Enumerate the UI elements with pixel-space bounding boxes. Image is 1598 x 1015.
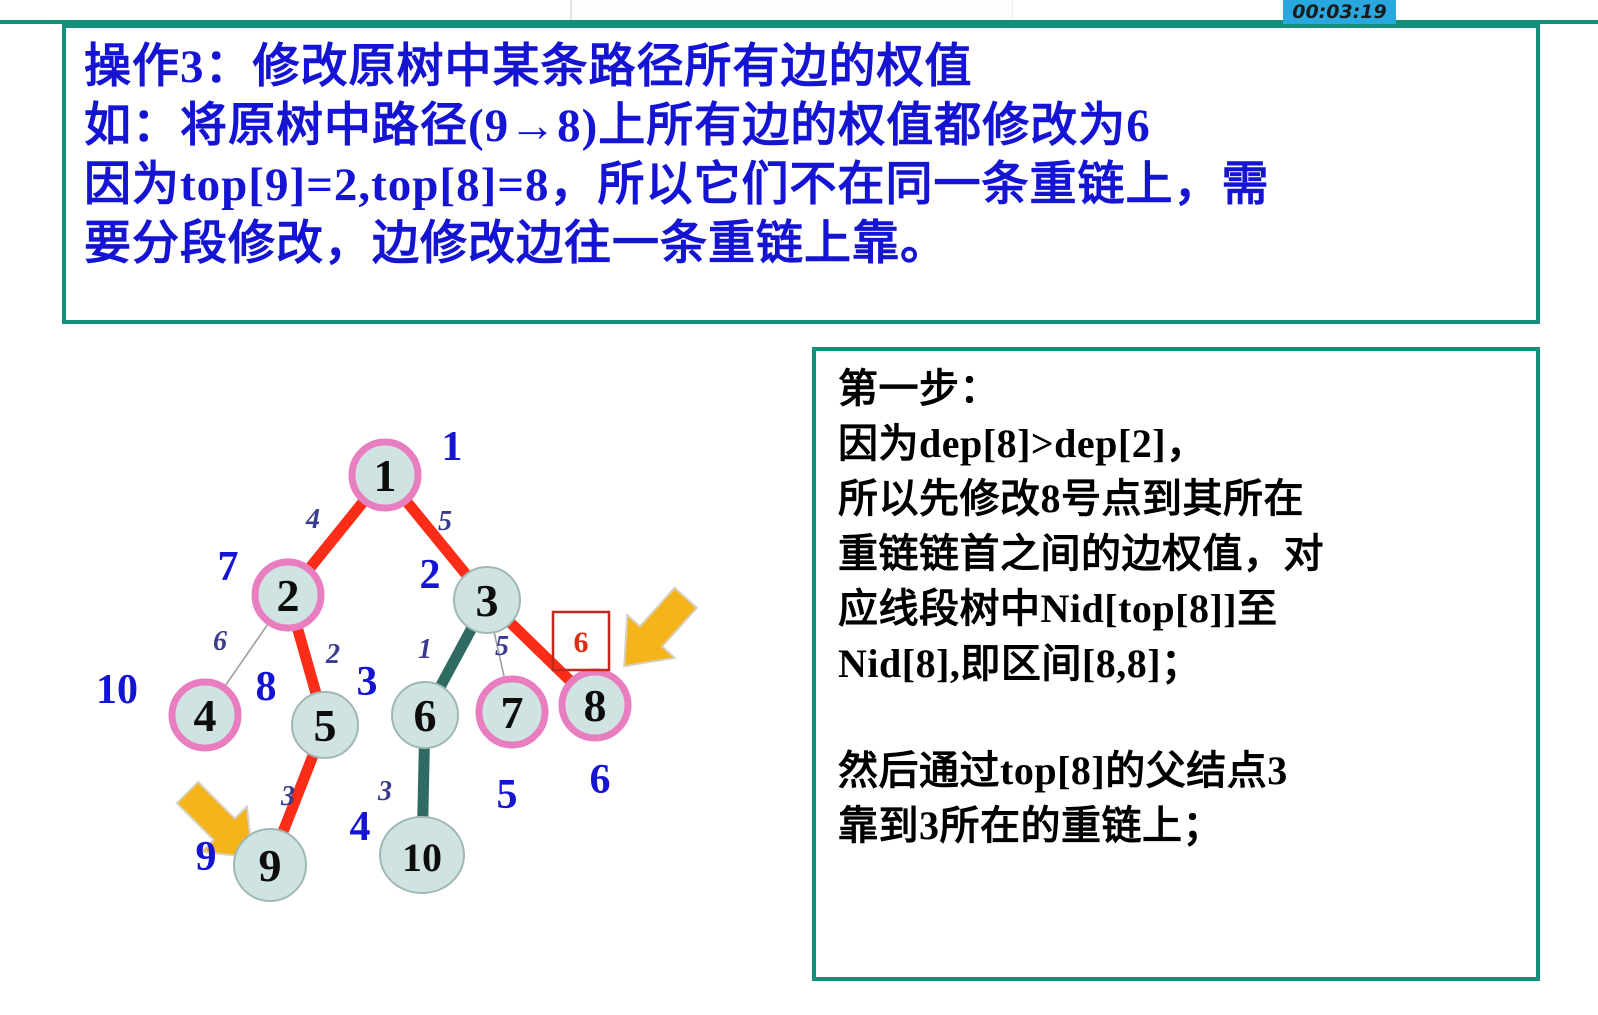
tree-node-label-7: 7 xyxy=(501,687,524,738)
explanation-line-5: 应线段树中Nid[top[8]]至 xyxy=(838,581,1528,636)
edge-3-6 xyxy=(440,628,472,687)
explanation-line-3: 所以先修改8号点到其所在 xyxy=(838,471,1528,526)
node-index-label-7: 5 xyxy=(497,772,518,818)
node-index-label-8: 6 xyxy=(590,757,611,803)
node-index-label-2: 7 xyxy=(218,544,239,590)
explanation-spacer xyxy=(838,691,1528,743)
tree-node-label-5: 5 xyxy=(314,700,337,751)
edge-6-10 xyxy=(423,747,425,818)
statement-box: 操作3：修改原树中某条路径所有边的权值 如：将原树中路径(9→8)上所有边的权值… xyxy=(62,24,1540,324)
tree-node-4: 4 xyxy=(172,682,238,748)
tree-node-9: 9 xyxy=(234,829,306,901)
tree-diagram: 12345678910 45621533617210835694 xyxy=(70,400,770,960)
tree-node-label-8: 8 xyxy=(584,680,607,731)
edge-3-8 xyxy=(510,622,572,682)
edge-weight-3-7: 5 xyxy=(495,631,509,662)
edge-weight-2-4: 6 xyxy=(213,626,227,657)
tree-node-label-10: 10 xyxy=(402,835,442,880)
statement-text-block: 操作3：修改原树中某条路径所有边的权值 如：将原树中路径(9→8)上所有边的权值… xyxy=(84,38,1524,274)
explanation-line-7: 然后通过top[8]的父结点3 xyxy=(838,743,1528,798)
explanation-line-2: 因为dep[8]>dep[2]， xyxy=(838,416,1528,471)
tree-node-10: 10 xyxy=(380,817,464,893)
top-strip-window-edge xyxy=(570,0,1013,20)
explanation-line-8: 靠到3所在的重链上； xyxy=(838,798,1528,853)
tree-node-7: 7 xyxy=(479,679,545,745)
tree-node-label-2: 2 xyxy=(277,570,300,621)
node-index-label-6: 3 xyxy=(357,659,378,705)
edge-weight-1-2: 4 xyxy=(305,504,320,535)
edge-2-5 xyxy=(297,626,316,694)
explanation-line-4: 重链链首之间的边权值，对 xyxy=(838,526,1528,581)
node-index-label-5: 8 xyxy=(256,664,277,710)
explanation-text-block: 第一步： 因为dep[8]>dep[2]， 所以先修改8号点到其所在 重链链首之… xyxy=(838,361,1528,853)
explanation-line-6: Nid[8],即区间[8,8]； xyxy=(838,636,1528,691)
modified-weight-value: 6 xyxy=(574,626,589,659)
edge-weight-6-10: 3 xyxy=(377,776,392,807)
statement-line-4: 要分段修改，边修改边往一条重链上靠。 xyxy=(84,215,1524,274)
edge-weight-3-6: 1 xyxy=(418,634,432,665)
tree-node-label-1: 1 xyxy=(374,450,397,501)
tree-node-3: 3 xyxy=(454,567,520,633)
edge-weight-2-5: 2 xyxy=(325,639,340,670)
tree-node-1: 1 xyxy=(352,442,418,508)
statement-line-2: 如：将原树中路径(9→8)上所有边的权值都修改为6 xyxy=(84,97,1524,156)
timestamp-badge: 00:03:19 xyxy=(1283,0,1396,24)
tree-node-8: 8 xyxy=(562,672,628,738)
tree-node-6: 6 xyxy=(392,682,458,748)
statement-line-1: 操作3：修改原树中某条路径所有边的权值 xyxy=(84,38,1524,97)
statement-line-3: 因为top[9]=2,top[8]=8，所以它们不在同一条重链上，需 xyxy=(84,156,1524,215)
node-index-label-10: 4 xyxy=(350,804,371,850)
node-index-label-4: 10 xyxy=(96,667,138,713)
tree-node-label-9: 9 xyxy=(259,840,282,891)
tree-node-label-6: 6 xyxy=(414,690,437,741)
node-index-label-1: 1 xyxy=(442,424,463,470)
node-index-label-3: 2 xyxy=(420,552,441,598)
explanation-line-1: 第一步： xyxy=(838,361,1528,416)
arrow-to-node-8-icon xyxy=(600,576,709,687)
edge-weight-5-9: 3 xyxy=(280,781,295,812)
tree-node-label-3: 3 xyxy=(476,575,499,626)
edge-weight-1-3: 5 xyxy=(438,506,452,537)
tree-node-label-4: 4 xyxy=(194,690,217,741)
tree-node-5: 5 xyxy=(292,692,358,758)
tree-diagram-svg: 12345678910 45621533617210835694 xyxy=(70,400,770,960)
arrow-to-node-8-icon-shape xyxy=(600,576,709,687)
tree-node-2: 2 xyxy=(255,562,321,628)
explanation-box: 第一步： 因为dep[8]>dep[2]， 所以先修改8号点到其所在 重链链首之… xyxy=(812,347,1540,981)
node-index-label-9: 9 xyxy=(196,834,217,880)
